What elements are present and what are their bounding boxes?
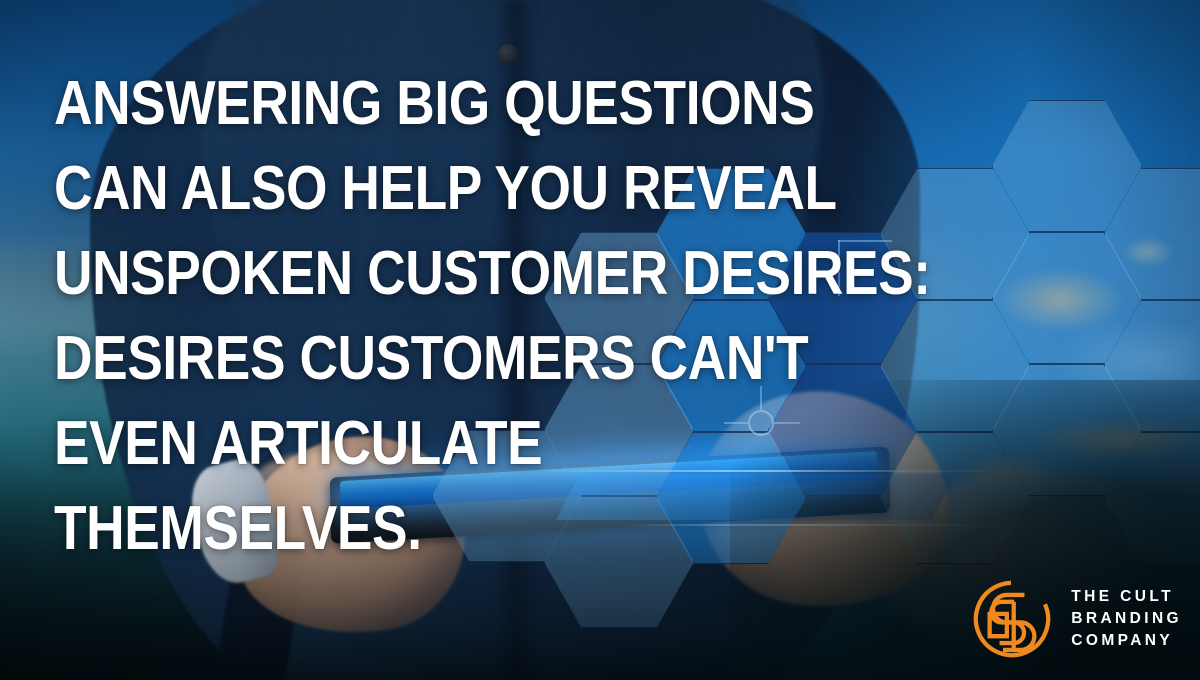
logo-word-line-1: THE CULT: [1071, 586, 1182, 608]
logo-word-line-3: COMPANY: [1071, 630, 1182, 652]
cult-branding-monogram-icon: [969, 576, 1055, 662]
brand-logo: THE CULT BRANDING COMPANY: [969, 576, 1182, 662]
headline-line-2: CAN ALSO HELP YOU REVEAL: [54, 146, 656, 231]
headline-line-1: ANSWERING BIG QUESTIONS: [54, 61, 656, 146]
logo-wordmark: THE CULT BRANDING COMPANY: [1071, 586, 1182, 652]
headline-line-6: THEMSELVES.: [54, 486, 656, 571]
logo-word-line-2: BRANDING: [1071, 608, 1182, 630]
headline-line-3: UNSPOKEN CUSTOMER DESIRES:: [54, 231, 656, 316]
headline-quote: ANSWERING BIG QUESTIONS CAN ALSO HELP YO…: [54, 61, 656, 571]
headline-line-5: EVEN ARTICULATE: [54, 401, 656, 486]
headline-line-4: DESIRES CUSTOMERS CAN'T: [54, 316, 656, 401]
quote-card: ANSWERING BIG QUESTIONS CAN ALSO HELP YO…: [0, 0, 1200, 680]
